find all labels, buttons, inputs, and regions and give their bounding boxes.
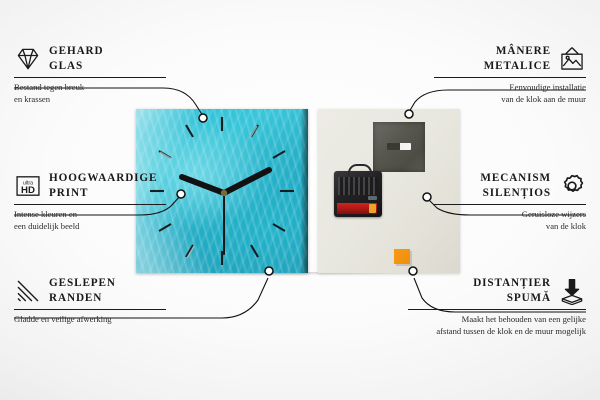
metal-hanger-plate	[373, 122, 425, 172]
mechanism-housing	[338, 177, 378, 195]
mechanism-hanging-loop	[348, 164, 372, 176]
diagonal-lines-icon	[14, 277, 42, 305]
divider	[434, 77, 586, 78]
gear-icon	[558, 172, 586, 200]
feature-header: GEHARD GLAS	[14, 44, 166, 74]
picture-frame-hanger-icon	[558, 45, 586, 73]
divider	[434, 204, 586, 205]
clock-mechanism	[334, 171, 382, 217]
feature-description: Maakt het behouden van een gelijke afsta…	[408, 313, 586, 338]
feature-title: GESLEPEN RANDEN	[49, 276, 116, 306]
feature-header: DISTANȚIER SPUMĂ	[408, 276, 586, 306]
feature-manere-metalice: MÂNERE METALICE Eenvoudige installatie v…	[434, 44, 586, 105]
feature-title: GEHARD GLAS	[49, 44, 104, 74]
battery	[337, 203, 377, 214]
product-image	[136, 109, 460, 275]
diamond-icon	[14, 45, 42, 73]
arrow-down-pad-icon	[558, 277, 586, 305]
feature-description: Geruisloze wijzers van de klok	[434, 208, 586, 233]
mechanism-dial	[368, 196, 377, 200]
feature-mecanism-silentios: MECANISM SILENȚIOS Geruisloze wijzers va…	[434, 171, 586, 232]
ultra-hd-icon: ultra HD	[14, 172, 42, 200]
feature-title: MECANISM SILENȚIOS	[480, 171, 551, 201]
divider	[14, 204, 166, 205]
feature-gehard-glas: GEHARD GLAS Bestand tegen breuk en krass…	[14, 44, 166, 105]
feature-header: MECANISM SILENȚIOS	[434, 171, 586, 201]
feature-distantier-spuma: DISTANȚIER SPUMĂ Maakt het behouden van …	[408, 276, 586, 337]
feature-title: DISTANȚIER SPUMĂ	[473, 276, 551, 306]
feature-description: Eenvoudige installatie van de klok aan d…	[434, 81, 586, 106]
divider	[408, 309, 586, 310]
feature-title: HOOGWAARDIGE PRINT	[49, 171, 157, 201]
hanger-slot	[387, 143, 411, 150]
feature-description: Gladde en veilige afwerking	[14, 313, 166, 325]
divider	[14, 77, 166, 78]
foam-spacer	[394, 249, 410, 264]
feature-description: Bestand tegen breuk en krassen	[14, 81, 166, 106]
svg-text:HD: HD	[21, 185, 35, 196]
feature-description: Intense kleuren en een duidelijk beeld	[14, 208, 166, 233]
feature-hoogwaardige-print: ultra HD HOOGWAARDIGE PRINT Intense kleu…	[14, 171, 166, 232]
feature-header: ultra HD HOOGWAARDIGE PRINT	[14, 171, 166, 201]
feature-title: MÂNERE METALICE	[484, 44, 551, 74]
feature-geslepen-randen: GESLEPEN RANDEN Gladde en veilige afwerk…	[14, 276, 166, 325]
infographic-canvas: GEHARD GLAS Bestand tegen breuk en krass…	[0, 0, 600, 400]
feature-header: MÂNERE METALICE	[434, 44, 586, 74]
feature-header: GESLEPEN RANDEN	[14, 276, 166, 306]
divider	[14, 309, 166, 310]
